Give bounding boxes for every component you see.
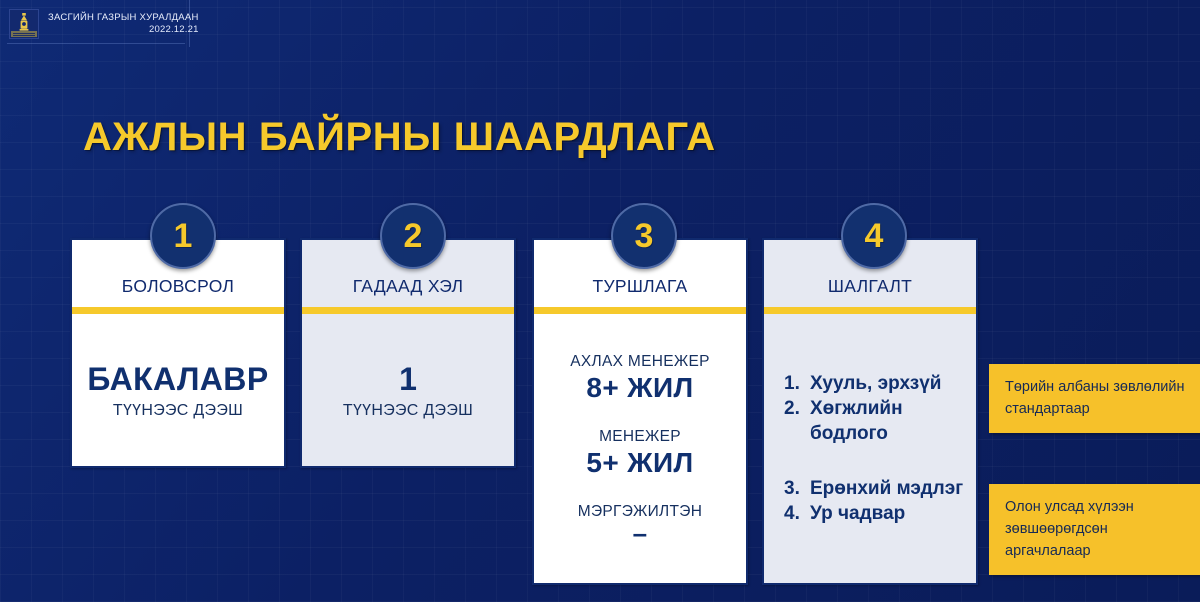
card-title-3: ТУРШЛАГА [592, 276, 687, 297]
experience-row-specialist: МЭРГЭЖИЛТЭН – [578, 503, 702, 544]
list-item-text-1: Хууль, эрхзүй [810, 371, 970, 396]
list-item-text-2: Хөгжлийн бодлого [810, 396, 970, 446]
experience-value-3: – [578, 522, 702, 544]
exam-topic-list: 1. Хууль, эрхзүй 2. Хөгжлийн бодлого 3. … [770, 371, 970, 526]
experience-label-2: МЕНЕЖЕР [586, 428, 693, 446]
card-1-main-value: БАКАЛАВР [87, 361, 268, 398]
list-item-text-4: Ур чадвар [810, 501, 970, 526]
list-item-number-2: 2. [784, 396, 810, 421]
card-body-1: БАКАЛАВР ТҮҮНЭЭС ДЭЭШ [72, 314, 284, 466]
card-gadaad-hel[interactable]: ГАДААД ХЭЛ 1 ТҮҮНЭЭС ДЭЭШ [300, 238, 516, 468]
card-rule-2 [302, 307, 514, 314]
list-item-number-4: 4. [784, 501, 810, 526]
card-badge-4: 4 [841, 203, 907, 269]
card-badge-3: 3 [611, 203, 677, 269]
list-item-text-3: Ерөнхий мэдлэг [810, 476, 970, 501]
list-item-number-1: 1. [784, 371, 810, 396]
card-badge-1: 1 [150, 203, 216, 269]
experience-row-senior-manager: АХЛАХ МЕНЕЖЕР 8+ ЖИЛ [570, 353, 710, 404]
card-turshlaga[interactable]: ТУРШЛАГА АХЛАХ МЕНЕЖЕР 8+ ЖИЛ МЕНЕЖЕР 5+… [532, 238, 748, 585]
card-title-4: ШАЛГАЛТ [828, 276, 912, 297]
card-2-main-value: 1 [399, 361, 417, 398]
experience-row-manager: МЕНЕЖЕР 5+ ЖИЛ [586, 428, 693, 479]
list-item-number-3: 3. [784, 476, 810, 501]
experience-label-1: АХЛАХ МЕНЕЖЕР [570, 353, 710, 371]
experience-value-2: 5+ ЖИЛ [586, 447, 693, 479]
card-badge-2: 2 [380, 203, 446, 269]
header-date: 2022.12.21 [48, 24, 199, 35]
mongolia-state-emblem-icon [9, 9, 39, 39]
emblem-plinth [11, 31, 37, 37]
card-1-sub-value: ТҮҮНЭЭС ДЭЭШ [113, 402, 243, 420]
list-item: 3. Ерөнхий мэдлэг [784, 476, 970, 501]
card-boловсrol[interactable]: БОЛОВСРОЛ БАКАЛАВР ТҮҮНЭЭС ДЭЭШ [70, 238, 286, 468]
experience-value-1: 8+ ЖИЛ [570, 372, 710, 404]
card-body-3: АХЛАХ МЕНЕЖЕР 8+ ЖИЛ МЕНЕЖЕР 5+ ЖИЛ МЭРГ… [534, 314, 746, 583]
note-box-methodology: Олон улсад хүлээн зөвшөөрөгдсөн аргачлал… [989, 484, 1200, 575]
card-rule-4 [764, 307, 976, 314]
slide-canvas: ЗАСГИЙН ГАЗРЫН ХУРАЛДААН 2022.12.21 АЖЛЫ… [0, 0, 1200, 602]
card-rule-3 [534, 307, 746, 314]
card-2-sub-value: ТҮҮНЭЭС ДЭЭШ [343, 402, 473, 420]
organization-name: ЗАСГИЙН ГАЗРЫН ХУРАЛДААН [48, 12, 199, 23]
card-rule-1 [72, 307, 284, 314]
list-item: 4. Ур чадвар [784, 501, 970, 526]
slide-header: ЗАСГИЙН ГАЗРЫН ХУРАЛДААН 2022.12.21 [0, 0, 190, 47]
list-item: 2. Хөгжлийн бодлого [784, 396, 970, 446]
page-title: АЖЛЫН БАЙРНЫ ШААРДЛАГА [83, 115, 716, 160]
card-body-4: 1. Хууль, эрхзүй 2. Хөгжлийн бодлого 3. … [764, 314, 976, 583]
card-body-2: 1 ТҮҮНЭЭС ДЭЭШ [302, 314, 514, 466]
list-item: 1. Хууль, эрхзүй [784, 371, 970, 396]
card-title-1: БОЛОВСРОЛ [122, 276, 234, 297]
header-text-block: ЗАСГИЙН ГАЗРЫН ХУРАЛДААН 2022.12.21 [48, 12, 199, 35]
card-title-2: ГАДААД ХЭЛ [353, 276, 464, 297]
note-box-standard: Төрийн албаны зөвлөлийн стандартаар [989, 364, 1200, 433]
card-shalgalt[interactable]: ШАЛГАЛТ 1. Хууль, эрхзүй 2. Хөгжлийн бод… [762, 238, 978, 585]
